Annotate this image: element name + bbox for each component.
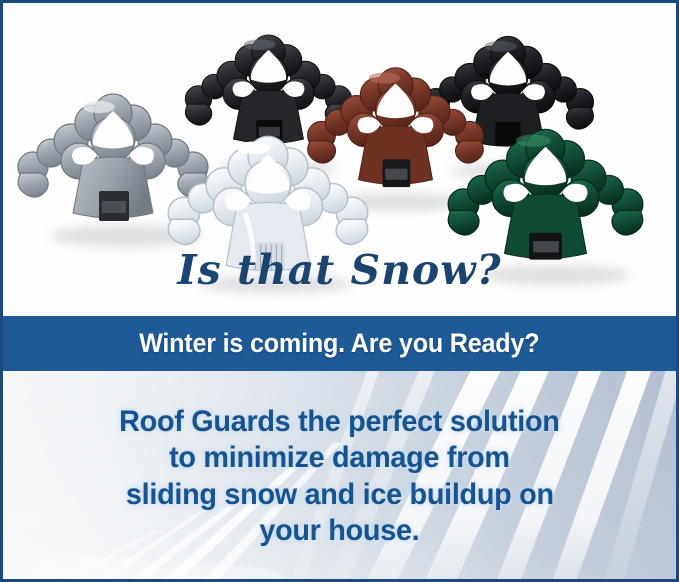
winter-banner: Winter is coming. Are you Ready? xyxy=(3,316,676,371)
advertisement-card: Is that Snow? Winter is coming. Are you … xyxy=(0,0,679,582)
script-headline: Is that Snow? xyxy=(3,246,676,294)
snow-copy-block: Roof Guards the perfect solution to mini… xyxy=(3,371,676,579)
banner-headline: Winter is coming. Are you Ready? xyxy=(139,328,539,359)
product-photo-panel: Is that Snow? xyxy=(3,3,676,316)
snow-copy-line-1: Roof Guards the perfect solution xyxy=(119,404,559,439)
snow-copy-line-3: sliding snow and ice buildup on xyxy=(126,477,554,512)
snow-message-panel: Roof Guards the perfect solution to mini… xyxy=(3,371,676,579)
snow-copy-line-2: to minimize damage from xyxy=(169,440,510,475)
snow-copy-line-4: your house. xyxy=(259,513,419,548)
